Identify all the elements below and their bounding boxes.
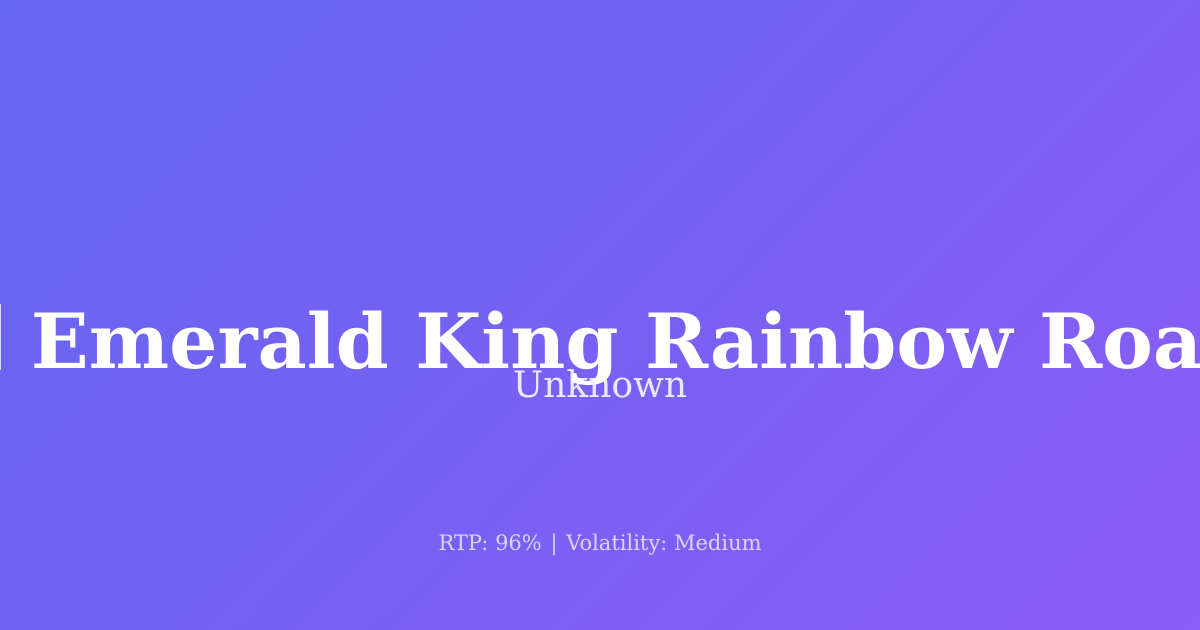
card-subtitle: Unknown — [0, 363, 1200, 409]
card-meta-line: RTP: 96% | Volatility: Medium — [0, 529, 1200, 557]
rtp-value: 96% — [495, 531, 542, 555]
meta-separator: | — [548, 531, 559, 555]
card-content: 1F B0 Emerald King Rainbow Road Unknown … — [0, 0, 1200, 630]
volatility-label: Volatility: — [566, 531, 667, 555]
rtp-label: RTP: — [438, 531, 488, 555]
og-share-card: 1F B0 Emerald King Rainbow Road Unknown … — [0, 0, 1200, 630]
volatility-value: Medium — [674, 531, 762, 555]
slot-machine-icon: 1F B0 — [0, 304, 1, 370]
